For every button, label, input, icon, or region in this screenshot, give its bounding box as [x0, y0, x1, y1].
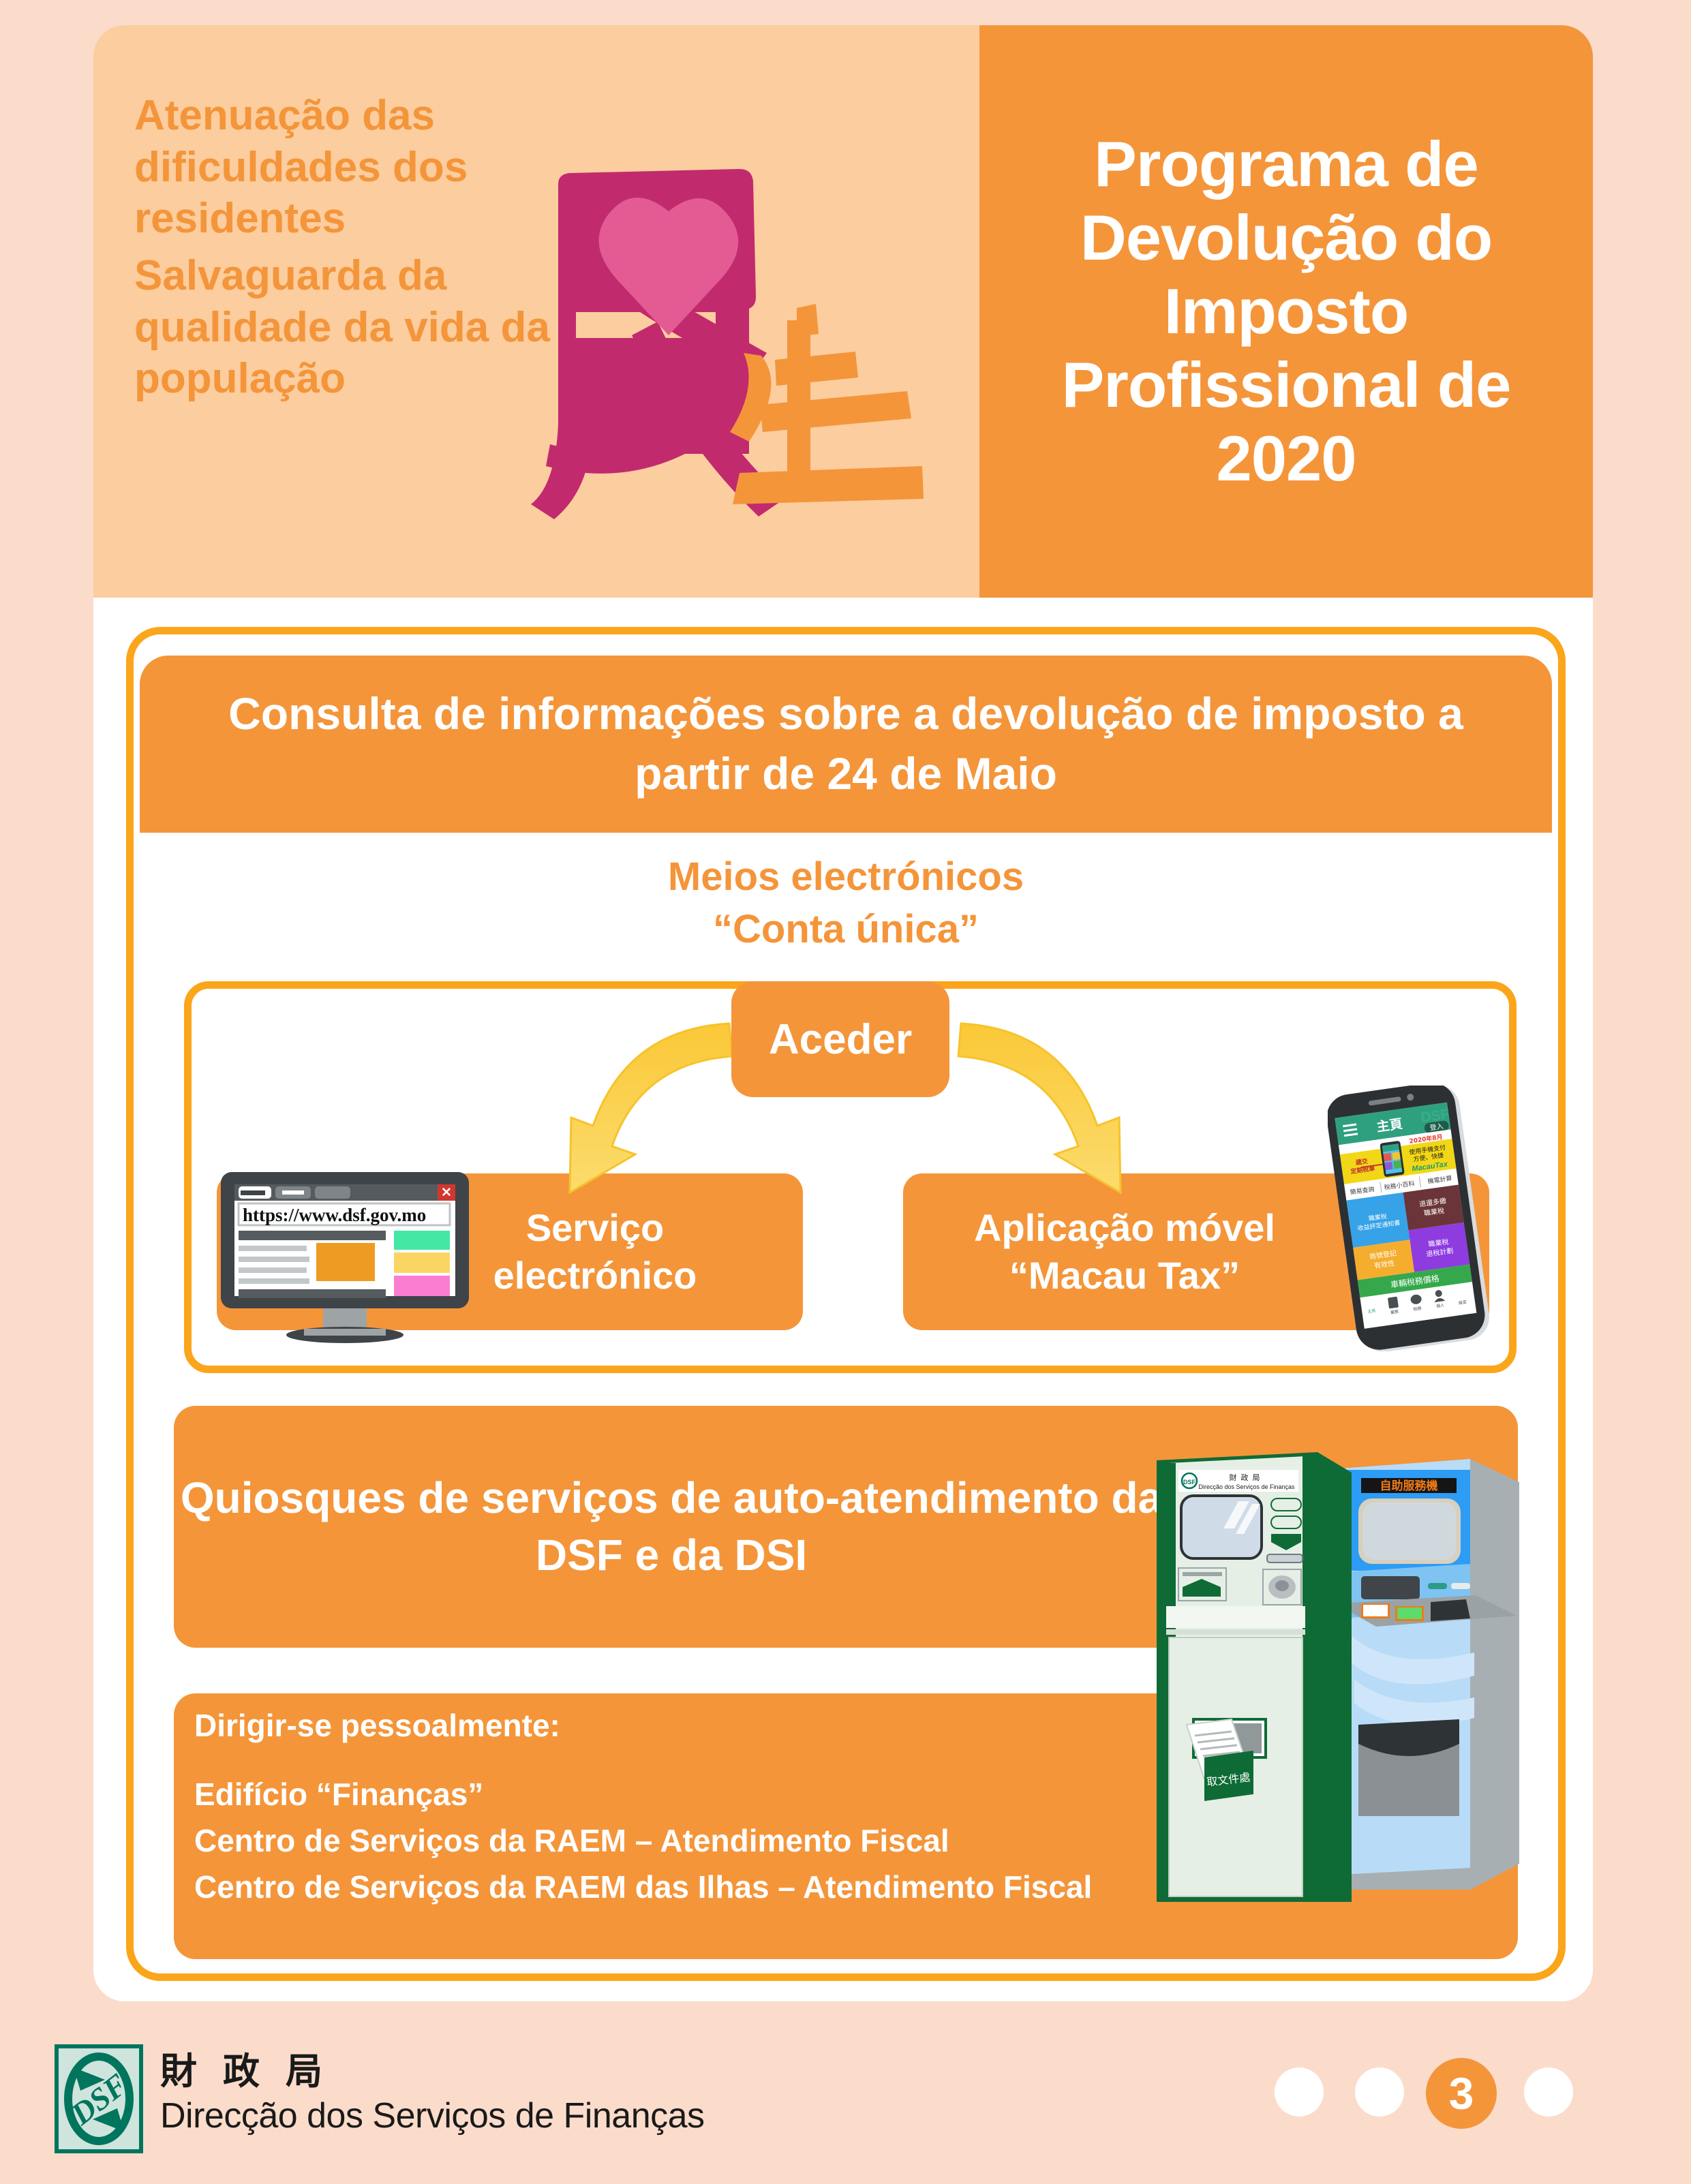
- address-content: Dirigir-se pessoalmente: Edifício “Finan…: [194, 1707, 1148, 1910]
- svg-text:自助服務機: 自助服務機: [1380, 1479, 1438, 1493]
- electronic-means-line-2: “Conta única”: [140, 903, 1552, 955]
- svg-text:Direcção dos Serviços de Finan: Direcção dos Serviços de Finanças: [1198, 1483, 1295, 1490]
- page-indicator: 3: [1275, 2058, 1581, 2133]
- address-line-2: Centro de Serviços da RAEM – Atendimento…: [194, 1817, 1148, 1864]
- svg-text:財政局: 財政局: [1230, 1473, 1264, 1482]
- aceder-button[interactable]: Aceder: [731, 981, 949, 1097]
- footer-org-cn: 財政局: [160, 2041, 348, 2095]
- slogan-line-2: Salvaguarda da qualidade da vida da popu…: [134, 250, 570, 405]
- page-dot-4[interactable]: [1524, 2067, 1573, 2117]
- svg-text:個人: 個人: [1436, 1302, 1445, 1309]
- address-title: Dirigir-se pessoalmente:: [194, 1707, 1148, 1744]
- svg-text:設定: 設定: [1458, 1299, 1467, 1306]
- svg-text:業務: 業務: [1390, 1309, 1399, 1316]
- desktop-monitor-icon: ✕ https://www.dsf.gov.mo: [209, 1168, 481, 1349]
- svg-text:DSF: DSF: [1183, 1479, 1196, 1486]
- self-service-kiosks-icon: 自助服務機 DSF 財政局 Direcção dos Serviços de F…: [1136, 1428, 1532, 1908]
- poster-header: Atenuação das dificuldades dos residente…: [93, 25, 1593, 598]
- consultation-banner-text: Consulta de informações sobre a devoluçã…: [182, 684, 1510, 804]
- page-dot-2[interactable]: [1355, 2067, 1404, 2117]
- electronic-means-heading: Meios electrónicos “Conta única”: [140, 850, 1552, 955]
- aceder-button-label: Aceder: [769, 1015, 912, 1064]
- consultation-banner: Consulta de informações sobre a devoluçã…: [140, 656, 1552, 833]
- smartphone-macau-tax-icon: 主頁 DSF 登入 遞交 定期稅單 2020年8月 使用手機支付 方便、快捷 M…: [1328, 1086, 1491, 1351]
- footer-org-pt: Direcção dos Serviços de Finanças: [160, 2095, 705, 2136]
- page-dot-1[interactable]: [1275, 2067, 1324, 2117]
- browser-url-text: https://www.dsf.gov.mo: [243, 1205, 426, 1225]
- header-right-panel: Programa de Devolução do Imposto Profiss…: [979, 25, 1593, 598]
- svg-text:主頁: 主頁: [1367, 1308, 1376, 1314]
- address-line-1: Edifício “Finanças”: [194, 1771, 1148, 1817]
- electronic-means-line-1: Meios electrónicos: [140, 850, 1552, 903]
- svg-text:稅務: 稅務: [1413, 1306, 1422, 1312]
- poster-page: Atenuação das dificuldades dos residente…: [0, 0, 1691, 2184]
- svg-text:✕: ✕: [441, 1186, 452, 1200]
- dsf-logo-icon: DSF: [55, 2044, 143, 2153]
- kiosk-band-text: Quiosques de serviços de auto-atendiment…: [174, 1406, 1169, 1648]
- page-title: Programa de Devolução do Imposto Profiss…: [1004, 127, 1568, 495]
- address-line-3: Centro de Serviços da RAEM das Ilhas – A…: [194, 1864, 1148, 1910]
- slogan-line-1: Atenuação das dificuldades dos residente…: [134, 90, 611, 245]
- page-dot-3-active[interactable]: 3: [1426, 2058, 1497, 2129]
